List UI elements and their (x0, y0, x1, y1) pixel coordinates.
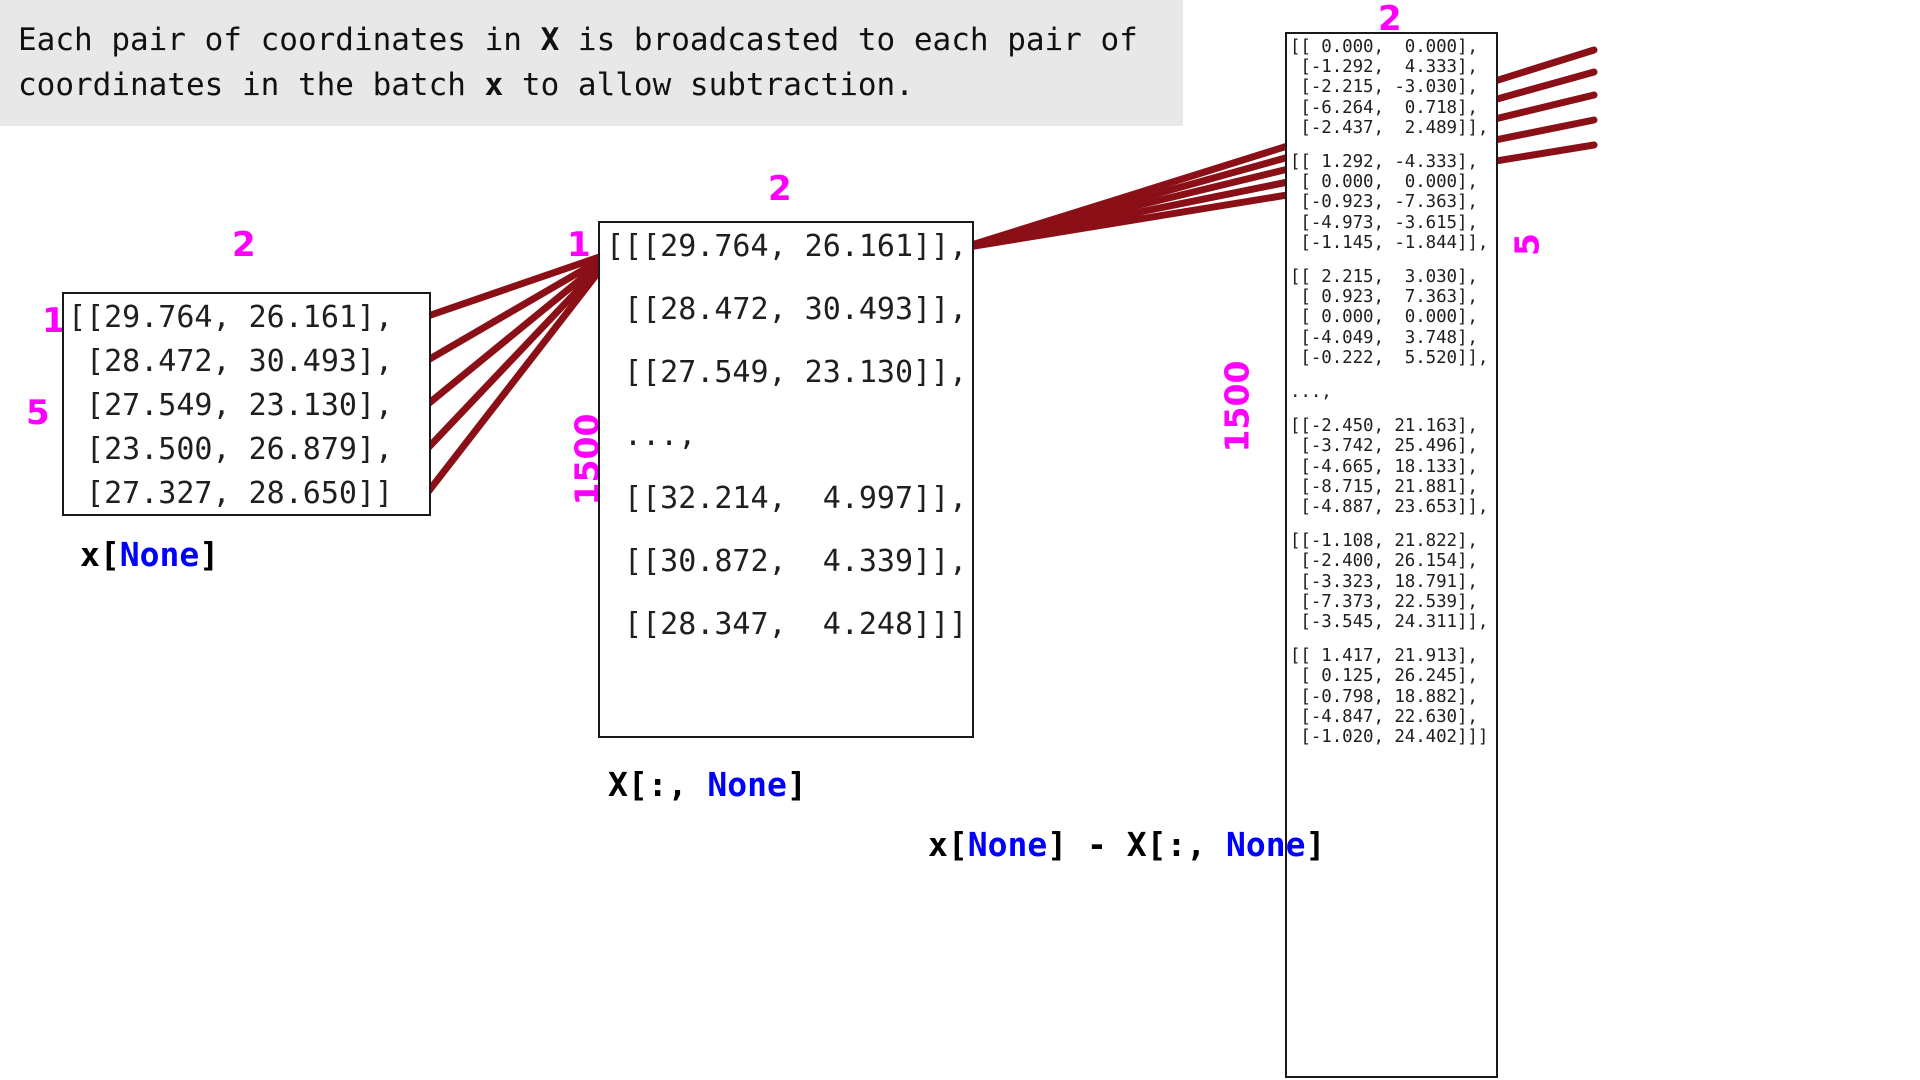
label-x-none-prefix: x[ (80, 535, 120, 574)
matrix-mid-row-gap (606, 332, 972, 351)
matrix-mid-row: [[27.549, 23.130]], (606, 351, 972, 395)
matrix-mid-row: [[30.872, 4.339]], (606, 540, 972, 584)
dim-label-right-rows: 1500 (1221, 360, 1254, 454)
label-X-colon-none-keyword: None (707, 765, 786, 804)
matrix-mid-row-gap (606, 458, 972, 477)
matrix-result-row: [-1.020, 24.402]]] (1290, 727, 1496, 747)
caption-banner: Each pair of coordinates in X is broadca… (0, 0, 1183, 126)
label-result-b: ] - X[:, (1047, 825, 1226, 864)
matrix-X-colon-none: [[[29.764, 26.161]], [[28.472, 30.493]],… (598, 221, 974, 738)
matrix-result-row: [-4.973, -3.615], (1290, 213, 1496, 233)
matrix-result-block-gap (1290, 138, 1496, 152)
dim-label-left-cols: 2 (232, 228, 256, 262)
matrix-result-row: [-7.373, 22.539], (1290, 592, 1496, 612)
label-X-colon-none-suffix: ] (787, 765, 807, 804)
matrix-result-row: [-4.665, 18.133], (1290, 457, 1496, 477)
matrix-result-block-gap (1290, 517, 1496, 531)
label-result-c: ] (1306, 825, 1326, 864)
label-result-a: x[ (928, 825, 968, 864)
caption-line2-part1: coordinates in the batch (18, 67, 485, 103)
matrix-result-row: [-4.847, 22.630], (1290, 707, 1496, 727)
matrix-result-row: [-3.545, 24.311]], (1290, 612, 1496, 632)
dim-label-right-rows-inner: 5 (1511, 214, 1544, 276)
caption-line1-part2: is broadcasted to each pair of (559, 22, 1138, 58)
matrix-result-row: [ 0.000, 0.000], (1290, 307, 1496, 327)
matrix-result-block-gap (1290, 402, 1496, 416)
matrix-result-block-gap (1290, 632, 1496, 646)
matrix-result-row: [-3.323, 18.791], (1290, 572, 1496, 592)
matrix-result-block: [[-2.450, 21.163], [-3.742, 25.496], [-4… (1290, 416, 1496, 517)
matrix-mid-row: [[32.214, 4.997]], (606, 477, 972, 521)
matrix-mid-row-gap (606, 395, 972, 414)
caption-line1-part1: Each pair of coordinates in (18, 22, 541, 58)
arrow-right-row-5 (962, 145, 1594, 248)
arrow-right-row-4 (962, 120, 1594, 248)
matrix-result-row: [-2.400, 26.154], (1290, 551, 1496, 571)
matrix-result-row: [-1.145, -1.844]], (1290, 233, 1496, 253)
caption-symbol-x: x (485, 67, 504, 103)
dim-label-mid-inner: 1 (567, 228, 591, 262)
matrix-x-none: [[29.764, 26.161], [28.472, 30.493], [27… (62, 292, 431, 516)
label-result-none-1: None (968, 825, 1047, 864)
label-x-none-keyword: None (120, 535, 199, 574)
matrix-result-row: [[ 1.417, 21.913], (1290, 646, 1496, 666)
matrix-result-block-gap (1290, 368, 1496, 382)
label-X-colon-none: X[:, None] (608, 765, 807, 804)
matrix-result-row: [ 0.125, 26.245], (1290, 666, 1496, 686)
matrix-mid-row: [[28.347, 4.248]]] (606, 603, 972, 647)
matrix-result-row: [-4.049, 3.748], (1290, 328, 1496, 348)
dim-label-left-rows: 5 (26, 396, 50, 430)
matrix-result-row: [ 0.000, 0.000], (1290, 172, 1496, 192)
dim-label-mid-cols: 2 (768, 172, 792, 206)
matrix-result-row: [[ 0.000, 0.000], (1290, 37, 1496, 57)
matrix-mid-row-gap (606, 521, 972, 540)
dim-label-right-cols: 2 (1378, 2, 1402, 36)
matrix-result-row: [ 0.923, 7.363], (1290, 287, 1496, 307)
caption-symbol-X: X (541, 22, 560, 58)
label-x-none-suffix: ] (199, 535, 219, 574)
matrix-mid-row: [[[29.764, 26.161]], (606, 225, 972, 269)
matrix-result-row: [-0.798, 18.882], (1290, 687, 1496, 707)
matrix-mid-row: [[28.472, 30.493]], (606, 288, 972, 332)
matrix-result-row: [-3.742, 25.496], (1290, 436, 1496, 456)
matrix-result-block: [[ 1.292, -4.333], [ 0.000, 0.000], [-0.… (1290, 152, 1496, 253)
matrix-result-block: ..., (1290, 382, 1496, 402)
matrix-result-block: [[ 0.000, 0.000], [-1.292, 4.333], [-2.2… (1290, 37, 1496, 138)
matrix-result-block: [[-1.108, 21.822], [-2.400, 26.154], [-3… (1290, 531, 1496, 632)
matrix-result-row: [-2.437, 2.489]], (1290, 118, 1496, 138)
label-result-expression: x[None] - X[:, None] (928, 825, 1325, 864)
matrix-result-row: ..., (1290, 382, 1496, 402)
matrix-result-row: [[ 1.292, -4.333], (1290, 152, 1496, 172)
matrix-result-row: [-6.264, 0.718], (1290, 98, 1496, 118)
matrix-result-row: [-2.215, -3.030], (1290, 77, 1496, 97)
matrix-result-block: [[ 2.215, 3.030], [ 0.923, 7.363], [ 0.0… (1290, 267, 1496, 368)
caption-line2-part2: to allow subtraction. (503, 67, 914, 103)
matrix-result-row: [-4.887, 23.653]], (1290, 497, 1496, 517)
matrix-mid-row: ..., (606, 414, 972, 458)
matrix-result-row: [-0.923, -7.363], (1290, 192, 1496, 212)
matrix-result-row: [-0.222, 5.520]], (1290, 348, 1496, 368)
label-result-none-2: None (1226, 825, 1305, 864)
label-x-none: x[None] (80, 535, 219, 574)
matrix-result-row: [[ 2.215, 3.030], (1290, 267, 1496, 287)
arrow-left-row-3 (428, 252, 614, 404)
matrix-mid-row-gap (606, 584, 972, 603)
matrix-result-block-gap (1290, 253, 1496, 267)
matrix-result-row: [[-2.450, 21.163], (1290, 416, 1496, 436)
label-X-colon-none-prefix: X[:, (608, 765, 707, 804)
arrow-left-row-2 (428, 252, 614, 360)
matrix-result: [[ 0.000, 0.000], [-1.292, 4.333], [-2.2… (1285, 32, 1498, 1078)
matrix-result-row: [-1.292, 4.333], (1290, 57, 1496, 77)
matrix-result-row: [-8.715, 21.881], (1290, 477, 1496, 497)
matrix-mid-row-gap (606, 269, 972, 288)
matrix-result-block: [[ 1.417, 21.913], [ 0.125, 26.245], [-0… (1290, 646, 1496, 747)
matrix-result-row: [[-1.108, 21.822], (1290, 531, 1496, 551)
